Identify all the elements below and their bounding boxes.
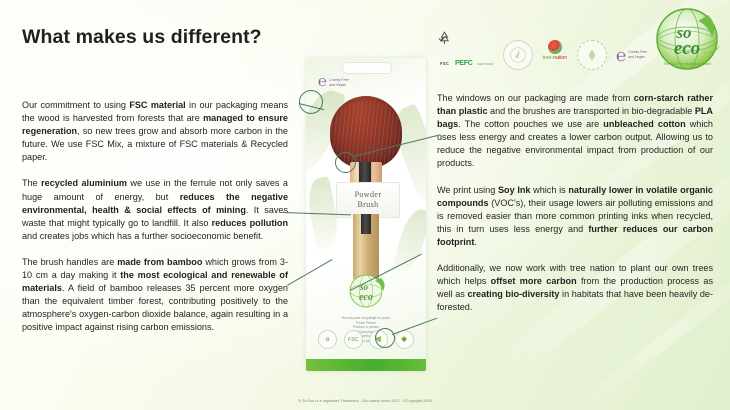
cf-label: Cruelty Freeand Vegan <box>628 50 647 59</box>
cruelty-free-vegan-icon: ℮ Cruelty Freeand Vegan <box>616 40 647 70</box>
pack-cruelty-free-label: Cruelty Free and Vegan <box>329 78 349 88</box>
emphasis-text: unbleached cotton <box>603 119 685 129</box>
body-text: and creates jobs which has a further soc… <box>22 231 263 241</box>
pefc-logo-icon: PEFC CERTIFIED <box>455 52 494 70</box>
emphasis-text: FSC material <box>129 100 185 110</box>
body-text: . A field of bamboo releases 35 percent … <box>22 283 288 332</box>
pack-bottom-band <box>306 359 426 371</box>
svg-text:eco: eco <box>359 292 373 303</box>
leaping-bunny-ring-icon <box>503 40 533 70</box>
bunny-glyph-icon: ℮ <box>318 75 327 90</box>
left-paragraph: Our commitment to using FSC material in … <box>22 99 288 164</box>
product-pack-image: ℮ Cruelty Free and Vegan Powder Brush <box>306 58 426 371</box>
certification-logo-strip: FSC PEFC CERTIFIED tree-nation <box>437 38 647 72</box>
cf-bunny-glyph: ℮ <box>616 47 626 64</box>
product-name-label: Powder Brush <box>336 182 400 218</box>
left-text-column: Our commitment to using FSC material in … <box>22 99 288 335</box>
svg-text:The Eco Friendly Beauty Brand: The Eco Friendly Beauty Brand <box>663 62 710 66</box>
fsc-logo-icon: FSC PEFC CERTIFIED <box>437 40 494 70</box>
fsc-icon: FSC <box>344 330 363 349</box>
right-paragraph: We print using Soy Ink which is naturall… <box>437 184 713 249</box>
body-text: The brush handles are <box>22 257 117 267</box>
emphasis-text: reduces pollution <box>212 218 288 228</box>
body-text: which is <box>530 185 568 195</box>
body-text: and the brushes are transported in bio-d… <box>488 106 695 116</box>
body-text: Our commitment to using <box>22 100 129 110</box>
body-text: We print using <box>437 185 498 195</box>
page-title: What makes us different? <box>22 26 262 49</box>
pack-icon-row: ♻ FSC 🌿 🌳 <box>318 330 414 349</box>
so-eco-logo-icon: so eco The Eco Friendly Beauty Brand <box>650 3 724 75</box>
emphasis-text: creating bio-diversity <box>467 289 559 299</box>
svg-text:eco: eco <box>674 38 700 59</box>
fsc-label: FSC <box>440 61 449 66</box>
emphasis-text: offset more carbon <box>491 276 577 286</box>
tree-nation-logo-icon: tree-nation <box>543 40 568 70</box>
footer-copyright: ® So Eco is a registered Trademark - Eco… <box>0 399 730 403</box>
body-text: The windows on our packaging are made fr… <box>437 93 634 103</box>
annotation-callout-fsc-packaging <box>299 90 323 114</box>
pack-cruelty-free-badge: ℮ Cruelty Free and Vegan <box>318 75 349 90</box>
emphasis-text: recycled aluminium <box>41 178 127 188</box>
tree-nation-label: tree-nation <box>543 55 568 61</box>
body-text: The <box>22 178 41 188</box>
handle-dark-stripe <box>361 214 371 234</box>
fsc-tree-checkmark-icon: FSC <box>437 31 452 70</box>
left-paragraph: The recycled aluminium we use in the fer… <box>22 177 288 242</box>
right-paragraph: The windows on our packaging are made fr… <box>437 92 713 171</box>
pefc-label: PEFC <box>455 60 472 67</box>
right-text-column: The windows on our packaging are made fr… <box>437 92 713 314</box>
vegan-wreath-icon <box>577 40 607 70</box>
emphasis-text: Soy Ink <box>498 185 531 195</box>
recycle-icon: ♻ <box>318 330 337 349</box>
slide-canvas: What makes us different? Our commitment … <box>0 0 730 410</box>
product-label-line2: Brush <box>357 200 378 210</box>
pack-hang-hole <box>342 62 392 74</box>
tree-nation-mark <box>548 40 562 54</box>
pack-so-eco-logo-icon: so eco <box>336 272 396 314</box>
product-label-line1: Powder <box>355 190 382 200</box>
left-paragraph: The brush handles are made from bamboo w… <box>22 256 288 335</box>
annotation-callout-tree-nation <box>375 328 395 348</box>
pefc-sub-label: CERTIFIED <box>477 62 494 66</box>
emphasis-text: made from bamboo <box>117 257 202 267</box>
body-text: . The cotton pouches we use are <box>458 119 603 129</box>
body-text: . <box>474 237 477 247</box>
right-paragraph: Additionally, we now work with tree nati… <box>437 262 713 314</box>
